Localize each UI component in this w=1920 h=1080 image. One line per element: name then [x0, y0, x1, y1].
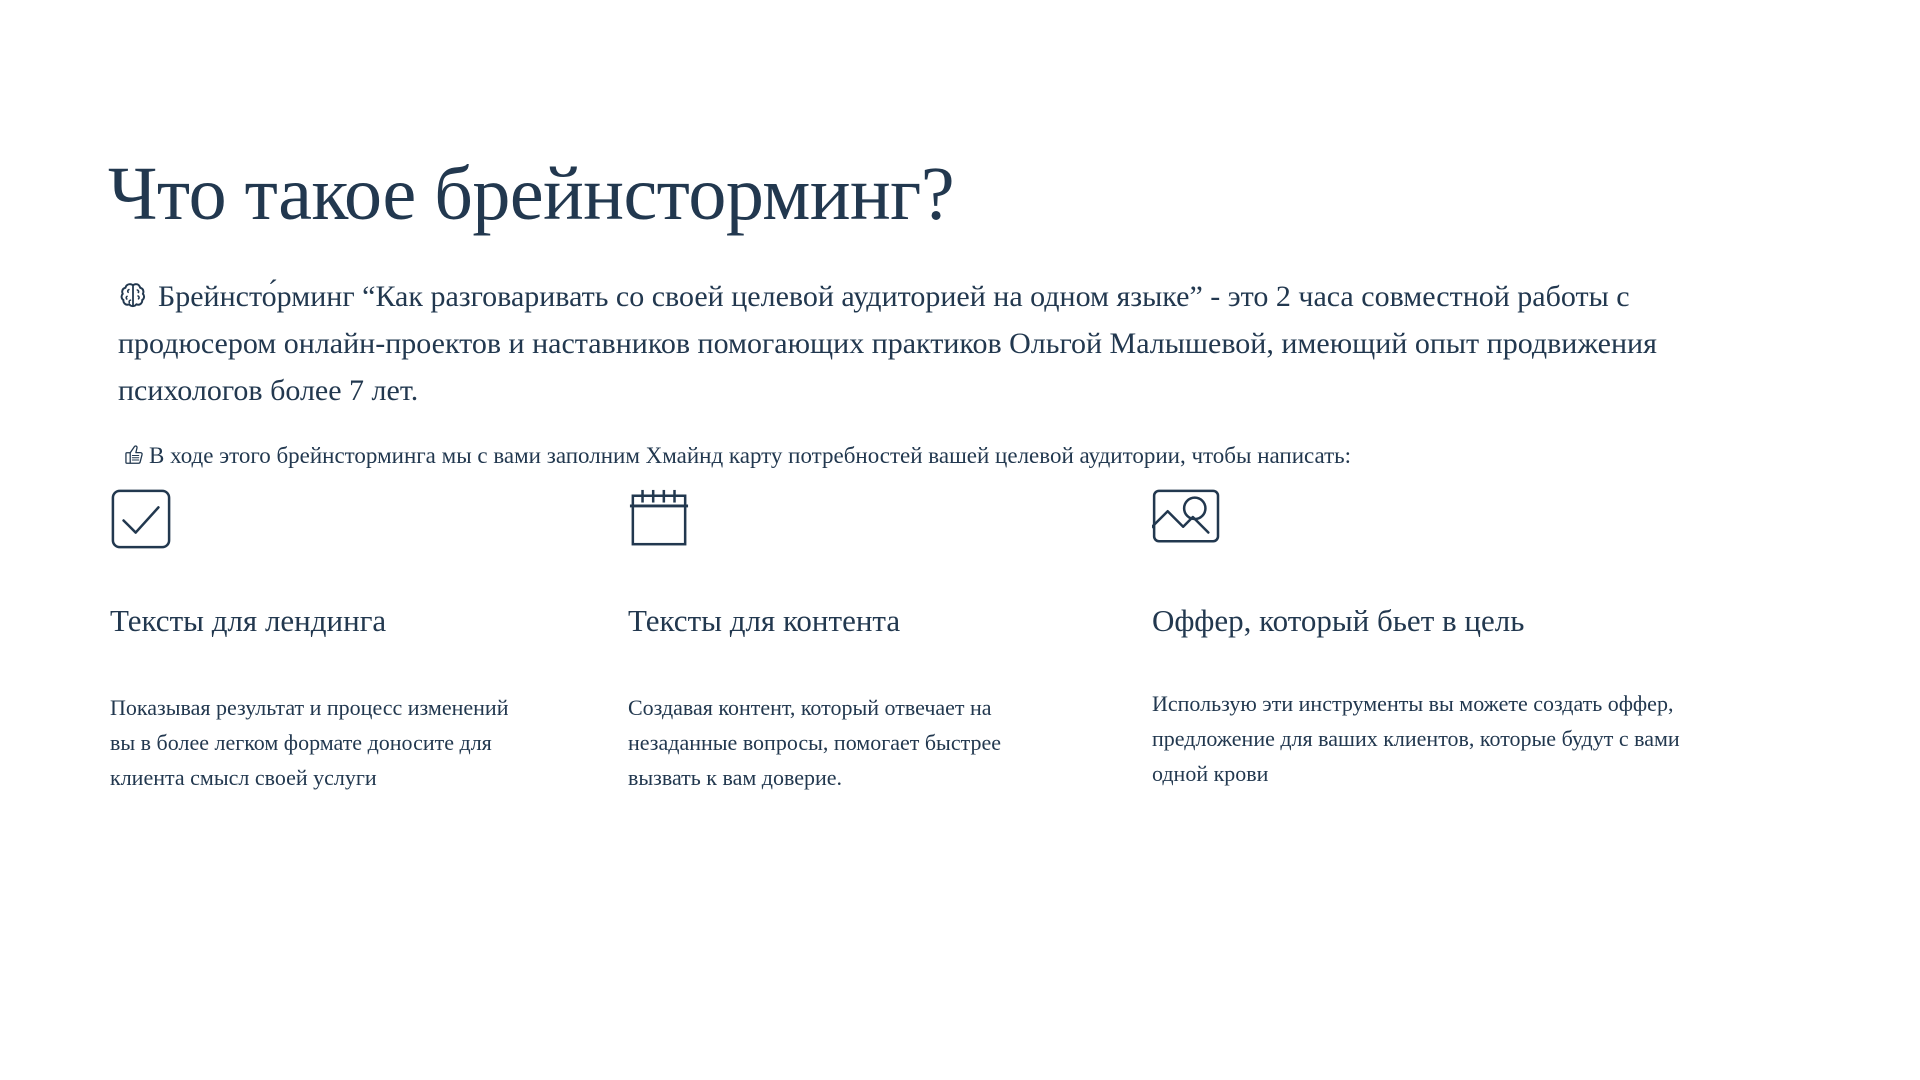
- thumbs-up-icon: [122, 442, 146, 466]
- feature-column-offer: Оффер, который бьет в цель Использую эти…: [1152, 488, 1712, 640]
- feature-body: Создавая контент, который отвечает на не…: [628, 690, 1008, 795]
- sub-block: В ходе этого брейнсторминга мы с вами за…: [122, 415, 1732, 496]
- intro-paragraph: Брейнсто́рминг “Как разговаривать со сво…: [118, 273, 1748, 414]
- sub-paragraph: В ходе этого брейнсторминга мы с вами за…: [122, 438, 1732, 473]
- feature-column-content-texts: Тексты для контента Создавая контент, ко…: [628, 488, 1058, 640]
- checkbox-check-icon: [110, 488, 540, 550]
- page-title: Что такое брейнсторминг?: [108, 156, 954, 232]
- calendar-icon: [628, 488, 1058, 550]
- intro-text: Брейнсто́рминг “Как разговаривать со сво…: [118, 280, 1657, 407]
- feature-body: Показывая результат и процесс изменений …: [110, 690, 530, 795]
- slide-root: Что такое брейнсторминг? Брейнсто́рминг …: [0, 0, 1920, 1080]
- brain-icon: [118, 278, 148, 308]
- image-picture-icon: [1152, 488, 1712, 550]
- feature-body: Использую эти инструменты вы можете созд…: [1152, 686, 1697, 791]
- feature-column-landing-texts: Тексты для лендинга Показывая результат …: [110, 488, 540, 640]
- sub-text: В ходе этого брейнсторминга мы с вами за…: [149, 443, 1351, 468]
- feature-heading: Тексты для лендинга: [110, 602, 540, 640]
- intro-block: Брейнсто́рминг “Как разговаривать со сво…: [118, 243, 1748, 444]
- feature-heading: Тексты для контента: [628, 602, 1058, 640]
- feature-heading: Оффер, который бьет в цель: [1152, 602, 1712, 640]
